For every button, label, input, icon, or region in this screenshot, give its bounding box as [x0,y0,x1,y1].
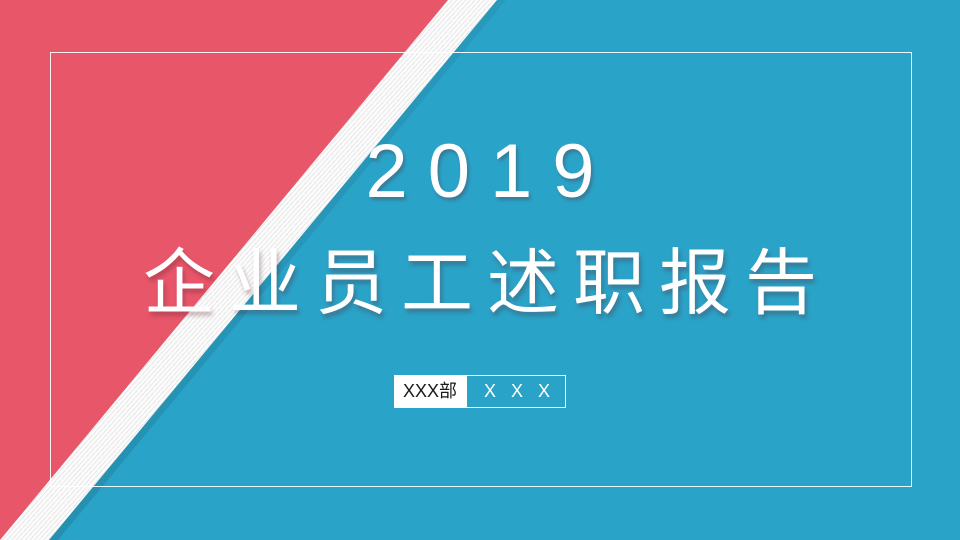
title-slide: 2019 企业员工述职报告 XXX部 X X X [0,0,960,540]
year-heading: 2019 [0,134,960,210]
department-chip: XXX部 [394,375,466,408]
presenter-chip: X X X [466,375,566,408]
slide-content: 2019 企业员工述职报告 XXX部 X X X [0,0,960,540]
page-title: 企业员工述职报告 [0,245,960,324]
subtitle-row: XXX部 X X X [0,375,960,408]
